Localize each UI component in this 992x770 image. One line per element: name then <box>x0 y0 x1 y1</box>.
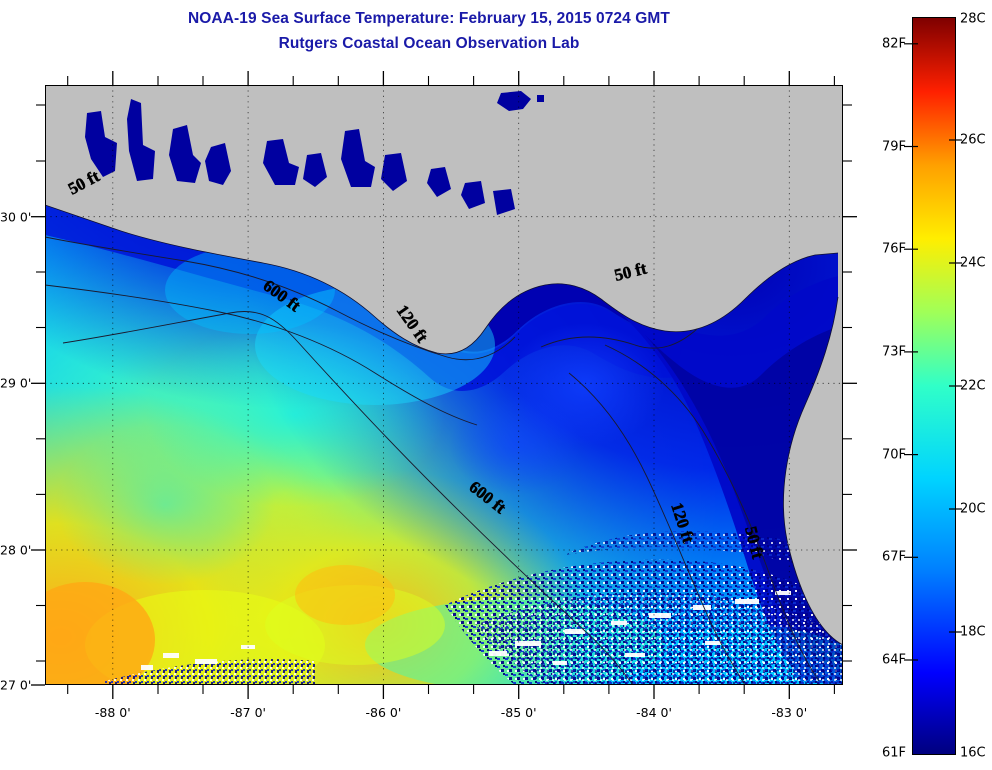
y-axis-minor-ticks <box>36 105 45 661</box>
colorbar-f-label-76: 76F <box>860 242 906 257</box>
x-tick-label-0: -88 0' <box>95 705 131 720</box>
y-tick-label-2: 28 0' <box>0 543 28 558</box>
page-title: NOAA-19 Sea Surface Temperature: Februar… <box>0 6 858 31</box>
temperature-colorbar[interactable] <box>912 17 956 755</box>
colorbar-f-label-61: 61F <box>860 746 906 761</box>
colorbar-c-label-22: 22C <box>960 379 986 394</box>
x-axis-major-ticks <box>113 685 790 699</box>
x-axis-top-minor-ticks <box>68 76 835 85</box>
y-tick-label-3: 27 0' <box>0 678 28 693</box>
colorbar-f-label-79: 79F <box>860 139 906 154</box>
x-tick-label-5: -83 0' <box>771 705 807 720</box>
colorbar-c-label-26: 26C <box>960 133 986 148</box>
colorbar-f-label-82: 82F <box>860 36 906 51</box>
colorbar-f-label-70: 70F <box>860 447 906 462</box>
x-tick-label-2: -86 0' <box>366 705 402 720</box>
y-tick-label-0: 30 0' <box>0 209 28 224</box>
x-tick-label-3: -85 0' <box>501 705 537 720</box>
colorbar-gradient <box>913 18 955 754</box>
y-axis-major-ticks <box>31 217 45 685</box>
colorbar-c-label-24: 24C <box>960 256 986 271</box>
y-axis-right-minor-ticks <box>843 105 852 661</box>
x-tick-label-4: -84 0' <box>636 705 672 720</box>
colorbar-f-label-64: 64F <box>860 653 906 668</box>
x-tick-label-1: -87 0' <box>230 705 266 720</box>
sst-map[interactable]: 50 ft 600 ft 120 ft 50 ft 600 ft 120 ft … <box>45 85 843 685</box>
y-tick-label-1: 29 0' <box>0 376 28 391</box>
colorbar-c-label-20: 20C <box>960 502 986 517</box>
sst-map-canvas[interactable]: 50 ft 600 ft 120 ft 50 ft 600 ft 120 ft … <box>45 85 843 685</box>
y-axis-right-ticks <box>843 217 857 550</box>
page-subtitle: Rutgers Coastal Ocean Observation Lab <box>0 31 858 56</box>
colorbar-c-label-18: 18C <box>960 625 986 640</box>
colorbar-f-label-67: 67F <box>860 550 906 565</box>
colorbar-f-label-73: 73F <box>860 344 906 359</box>
colorbar-c-label-28: 28C <box>960 12 986 27</box>
chart-title-block: NOAA-19 Sea Surface Temperature: Februar… <box>0 6 858 56</box>
colorbar-c-label-16: 16C <box>960 746 986 761</box>
x-axis-minor-ticks <box>68 685 835 694</box>
x-axis-top-ticks <box>113 71 790 85</box>
